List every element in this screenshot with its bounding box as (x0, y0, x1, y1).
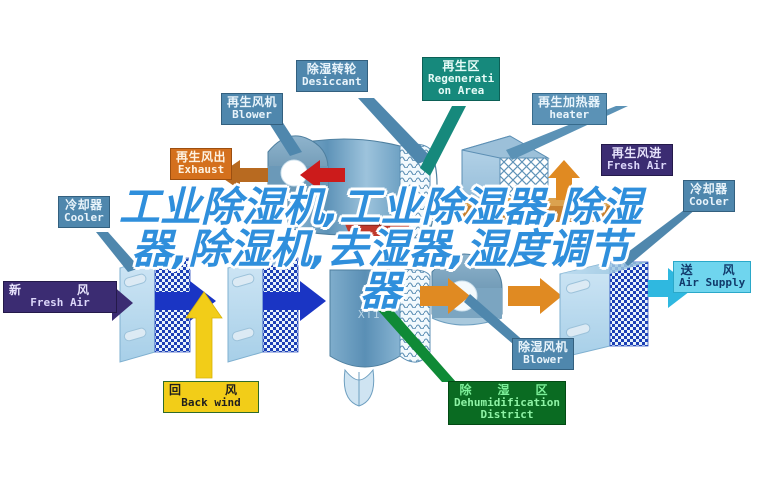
label-air-supply-en: Air Supply (679, 277, 745, 289)
label-regeneration-area-cn: 再生区 (428, 60, 494, 73)
label-regeneration-blower: 再生风机 Blower (221, 93, 283, 125)
label-fresh-air-en: Fresh Air (9, 297, 111, 309)
label-dehumidification-district: 除 湿 区 Dehumidification District (448, 381, 566, 425)
label-regeneration-heater-en: heater (538, 109, 601, 121)
label-cooler-right-cn: 冷却器 (689, 183, 729, 196)
label-dehumidification-blower-en: Blower (518, 354, 568, 366)
svg-text:XTI: XTI (358, 308, 381, 321)
label-regeneration-fresh-air: 再生风进 Fresh Air (601, 144, 673, 176)
label-fresh-air-cn: 新 风 (9, 284, 111, 297)
diagram-canvas: XTI (0, 0, 757, 488)
label-desiccant-wheel: 除湿转轮 Desiccant (296, 60, 368, 92)
pre-fan-arrow (508, 278, 562, 314)
label-regeneration-heater: 再生加热器 heater (532, 93, 607, 125)
label-desiccant-wheel-cn: 除湿转轮 (302, 63, 362, 76)
label-back-wind-en: Back wind (169, 397, 253, 409)
label-cooler-right: 冷却器 Cooler (683, 180, 735, 212)
label-dehumidification-district-en2: District (454, 409, 560, 421)
label-exhaust-cn: 再生风出 (176, 151, 226, 164)
label-air-supply: 送 风 Air Supply (673, 261, 751, 293)
dehumidifier-schematic: XTI (0, 0, 757, 488)
label-exhaust: 再生风出 Exhaust (170, 148, 232, 180)
label-regeneration-blower-cn: 再生风机 (227, 96, 277, 109)
label-regeneration-blower-en: Blower (227, 109, 277, 121)
label-fresh-air: 新 风 Fresh Air (3, 281, 117, 313)
label-cooler-right-en: Cooler (689, 196, 729, 208)
label-cooler-left: 冷却器 Cooler (58, 196, 110, 228)
label-dehumidification-blower: 除湿风机 Blower (512, 338, 574, 370)
label-regeneration-area: 再生区 Regenerati on Area (422, 57, 500, 101)
label-regeneration-fresh-air-en: Fresh Air (607, 160, 667, 172)
label-dehumidification-blower-cn: 除湿风机 (518, 341, 568, 354)
label-dehumidification-district-cn: 除 湿 区 (454, 384, 560, 397)
label-cooler-left-cn: 冷却器 (64, 199, 104, 212)
label-desiccant-wheel-en: Desiccant (302, 76, 362, 88)
label-back-wind-cn: 回 风 (169, 384, 253, 397)
label-regeneration-heater-cn: 再生加热器 (538, 96, 601, 109)
label-air-supply-cn: 送 风 (679, 264, 745, 277)
label-exhaust-en: Exhaust (176, 164, 226, 176)
label-regeneration-area-en2: on Area (428, 85, 494, 97)
label-back-wind: 回 风 Back wind (163, 381, 259, 413)
label-cooler-left-en: Cooler (64, 212, 104, 224)
label-regeneration-fresh-air-cn: 再生风进 (607, 147, 667, 160)
